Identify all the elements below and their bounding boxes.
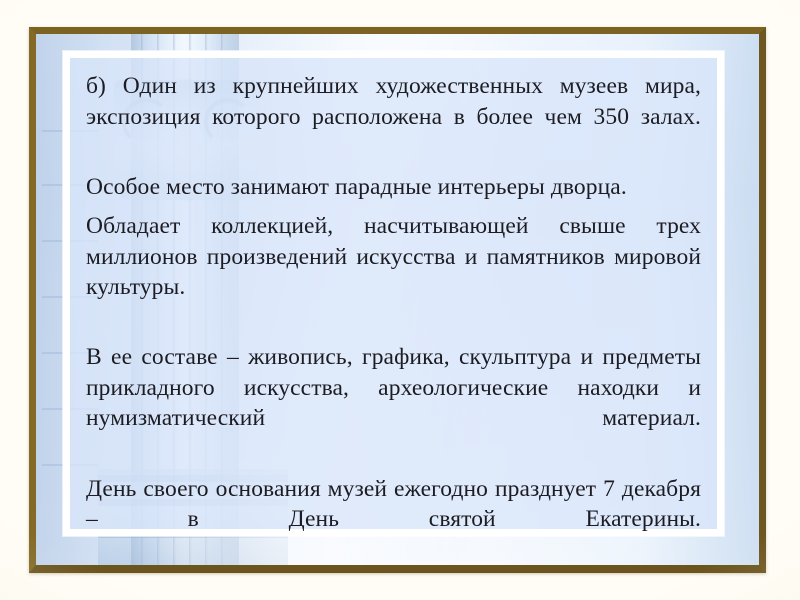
content-text-panel: б) Один из крупнейших художественных муз…	[63, 51, 724, 536]
slide-root: б) Один из крупнейших художественных муз…	[0, 0, 800, 600]
body-paragraph-1: б) Один из крупнейших художественных муз…	[86, 71, 701, 163]
body-paragraph-3: Обладает коллекцией, насчитывающей свыше…	[86, 211, 701, 333]
body-copy: б) Один из крупнейших художественных муз…	[86, 71, 701, 565]
slide-ornamental-frame: б) Один из крупнейших художественных муз…	[29, 27, 766, 573]
body-paragraph-2: Особое место занимают парадные интерьеры…	[86, 172, 701, 203]
body-paragraph-5: День своего основания музей ежегодно пра…	[86, 474, 701, 566]
body-paragraph-4: В ее составе – живопись, графика, скульп…	[86, 342, 701, 464]
